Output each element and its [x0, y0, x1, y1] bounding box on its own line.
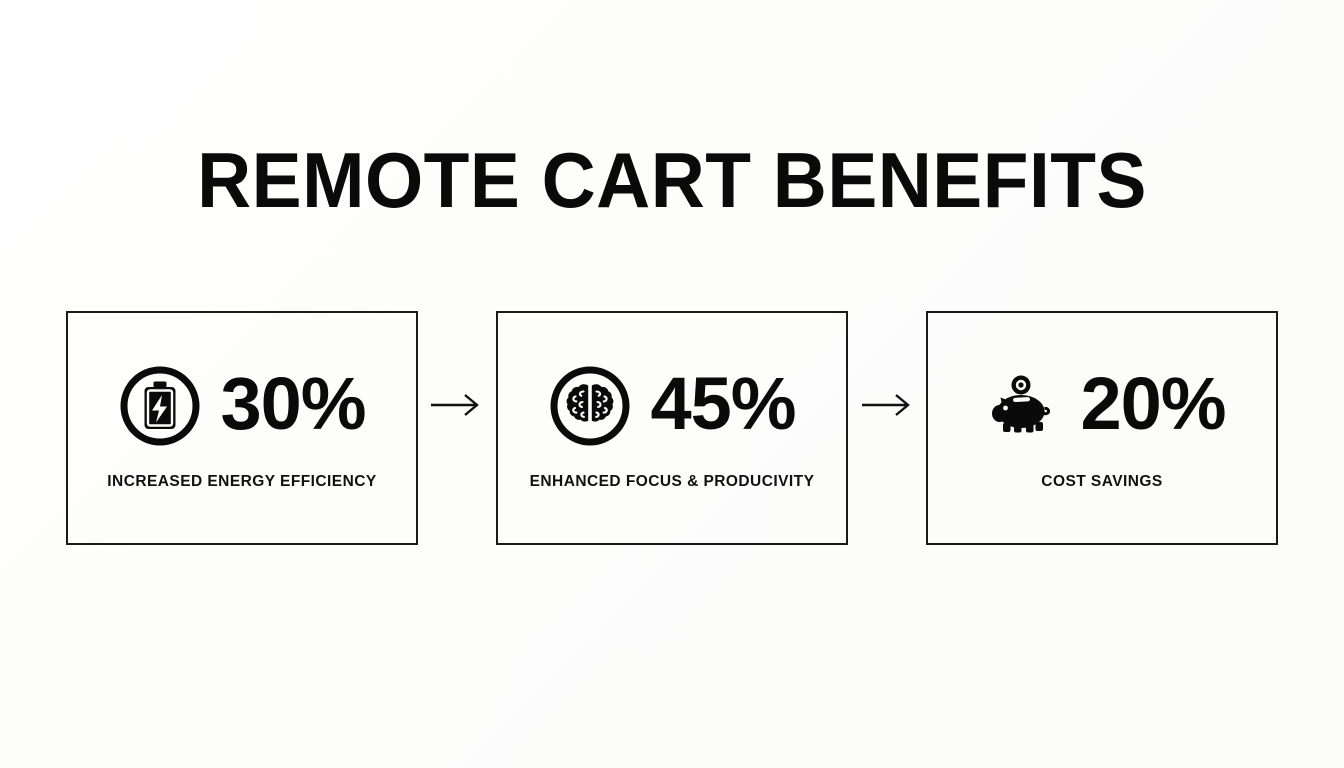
benefit-card-energy-efficiency[interactable]: 30% INCREASED ENERGY EFFICIENCY [66, 311, 418, 545]
page-title: REMOTE CART BENEFITS [27, 140, 1317, 220]
card-stat-value: 45% [650, 367, 795, 441]
card-stat-row: 45% [498, 363, 846, 449]
benefit-card-focus-productivity[interactable]: 45% ENHANCED FOCUS & PRODUCIVITY [496, 311, 848, 545]
card-stat-row: 30% [68, 363, 416, 449]
benefit-cards-row: 30% INCREASED ENERGY EFFICIENCY [66, 311, 1278, 545]
benefit-card-cost-savings[interactable]: 20% COST SAVINGS [926, 311, 1278, 545]
piggy-bank-icon [978, 364, 1062, 448]
card-label: ENHANCED FOCUS & PRODUCIVITY [498, 473, 846, 491]
card-stat-value: 30% [220, 367, 365, 441]
brain-circle-icon [548, 364, 632, 448]
card-label: INCREASED ENERGY EFFICIENCY [68, 473, 416, 491]
arrow-right-icon [426, 388, 488, 422]
card-stat-row: 20% [928, 363, 1276, 449]
arrow-right-icon [857, 388, 919, 422]
card-label: COST SAVINGS [928, 473, 1276, 491]
slide-canvas: REMOTE CART BENEFITS 30% INCREASED ENERG… [0, 0, 1344, 768]
card-stat-value: 20% [1080, 367, 1225, 441]
battery-charging-circle-icon [118, 364, 202, 448]
